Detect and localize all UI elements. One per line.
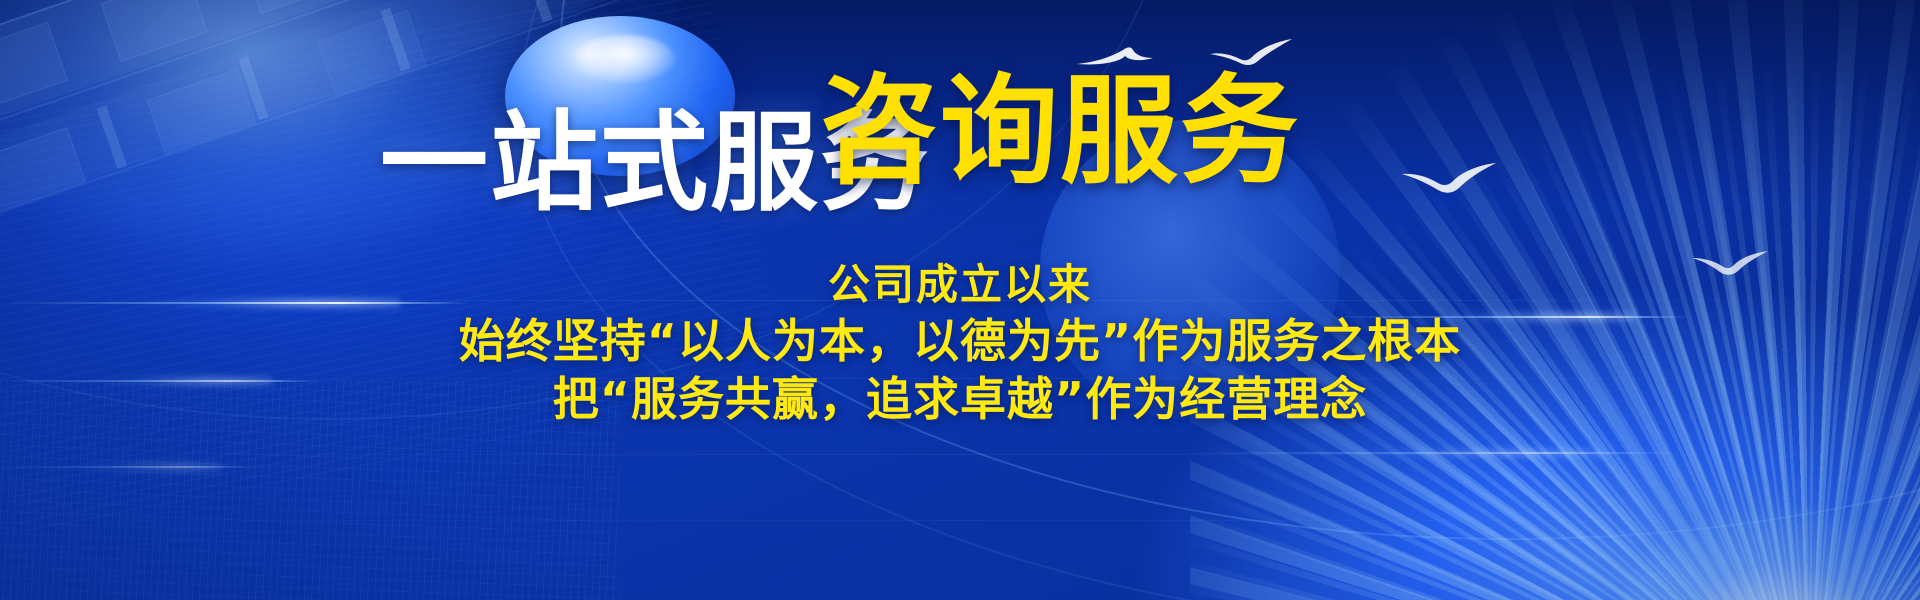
light-streak-5 (0, 466, 260, 468)
horizon-line-3 (0, 454, 1920, 455)
subtitle-line-2: 始终坚持“以人为本，以德为先”作为服务之根本 (0, 312, 1920, 370)
promo-banner: 一站式服务 咨询服务 公司成立以来 始终坚持“以人为本，以德为先”作为服务之根本… (0, 0, 1920, 600)
subtitle-line-1: 公司成立以来 (0, 258, 1920, 312)
horizon-line-4 (0, 520, 1920, 521)
light-streak-4 (1180, 452, 1680, 454)
fan-core-glow (1570, 475, 1920, 600)
subtitle-block: 公司成立以来 始终坚持“以人为本，以德为先”作为服务之根本 把“服务共赢，追求卓… (0, 258, 1920, 428)
headline-block: 一站式服务 咨询服务 (0, 0, 1920, 260)
headline-accent: 咨询服务 (820, 72, 1300, 190)
subtitle-line-3: 把“服务共赢，追求卓越”作为经营理念 (0, 370, 1920, 428)
